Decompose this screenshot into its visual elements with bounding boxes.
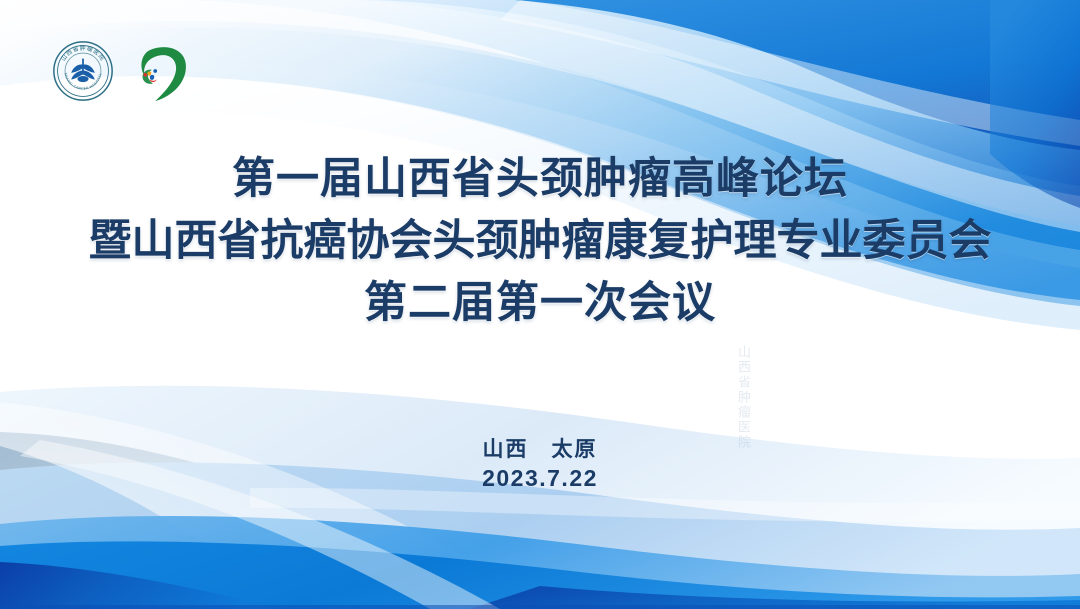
watermark-text: 山西省肿瘤医院 [735,345,751,450]
banner-title-block: 第一届山西省头颈肿瘤高峰论坛 暨山西省抗癌协会头颈肿瘤康复护理专业委员会 第二届… [0,148,1080,334]
title-line-2: 暨山西省抗癌协会头颈肿瘤康复护理专业委员会 [0,210,1080,272]
conference-banner: 山西省肿瘤医院 山西省肿瘤医院 SHANXI CANCER HOSPITAL [0,0,1080,609]
event-location: 山西 太原 [0,437,1080,463]
event-date: 2023.7.22 [0,464,1080,492]
logo-group: 山西省肿瘤医院 SHANXI CANCER HOSPITAL [52,40,190,102]
anti-cancer-association-mark-icon [132,41,190,101]
banner-footer-block: 山西 太原 2023.7.22 [0,437,1080,492]
title-line-1: 第一届山西省头颈肿瘤高峰论坛 [0,148,1080,210]
shanxi-cancer-hospital-emblem-icon: 山西省肿瘤医院 SHANXI CANCER HOSPITAL [52,40,114,102]
title-line-3: 第二届第一次会议 [0,272,1080,334]
